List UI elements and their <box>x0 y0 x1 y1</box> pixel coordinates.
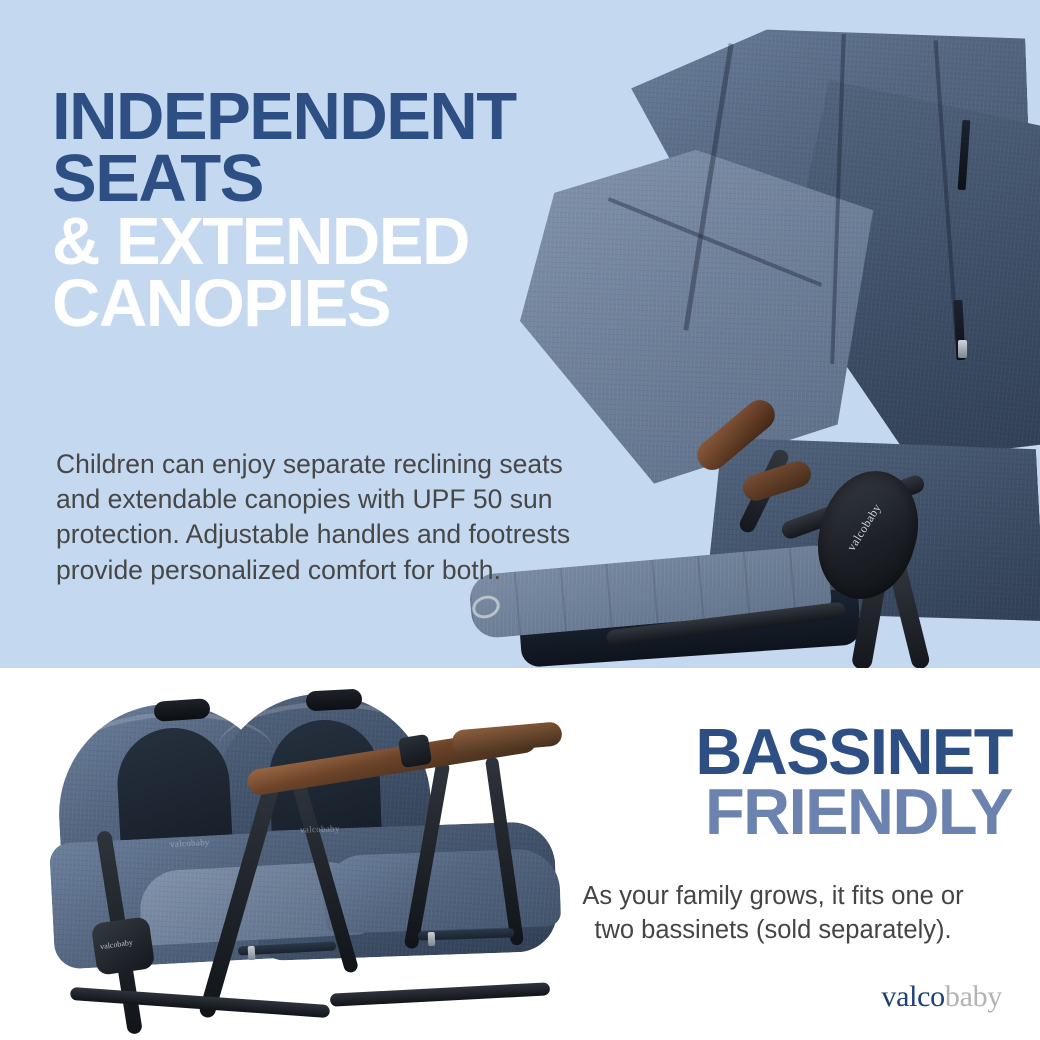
bassinet-brand-label-left: valcobaby <box>170 837 210 849</box>
headline-line-1: INDEPENDENT <box>52 86 702 148</box>
logo-word-baby: baby <box>945 980 1002 1013</box>
bassinet-brand-label-right: valcobaby <box>300 823 340 834</box>
marketing-poster: valcobaby INDEPENDENT SEATS & EXTENDED C… <box>0 0 1040 1040</box>
bassinet-apron-right <box>323 848 562 934</box>
valcobaby-logo: valcobaby <box>881 980 1002 1014</box>
top-body-copy: Children can enjoy separate reclining se… <box>56 447 586 589</box>
pocket-zipper-pull <box>428 932 435 946</box>
top-feature-panel: valcobaby INDEPENDENT SEATS & EXTENDED C… <box>0 0 1040 668</box>
bottom-caption: As your family grows, it fits one or two… <box>534 880 1012 948</box>
bottom-headline-line-1: BASSINET <box>492 722 1012 782</box>
bottom-headline-line-2: FRIENDLY <box>492 782 1012 842</box>
caption-line-1: As your family grows, it fits one or <box>534 880 1012 914</box>
headline-line-4: CANOPIES <box>52 273 702 335</box>
pocket-zipper-pull <box>248 946 256 960</box>
headline-line-2: SEATS <box>52 148 702 210</box>
bottom-headline: BASSINET FRIENDLY <box>492 722 1012 843</box>
top-headline: INDEPENDENT SEATS & EXTENDED CANOPIES <box>52 86 702 335</box>
headline-line-3: & EXTENDED <box>52 211 702 273</box>
bassinet-carry-grip-right <box>306 689 363 712</box>
logo-word-valco: valco <box>881 980 944 1013</box>
handlebar-clamp <box>398 734 432 768</box>
bassinet-carry-grip-left <box>153 698 210 722</box>
zipper-pull <box>958 340 967 358</box>
caption-line-2: two bassinets (sold separately). <box>534 914 1012 948</box>
